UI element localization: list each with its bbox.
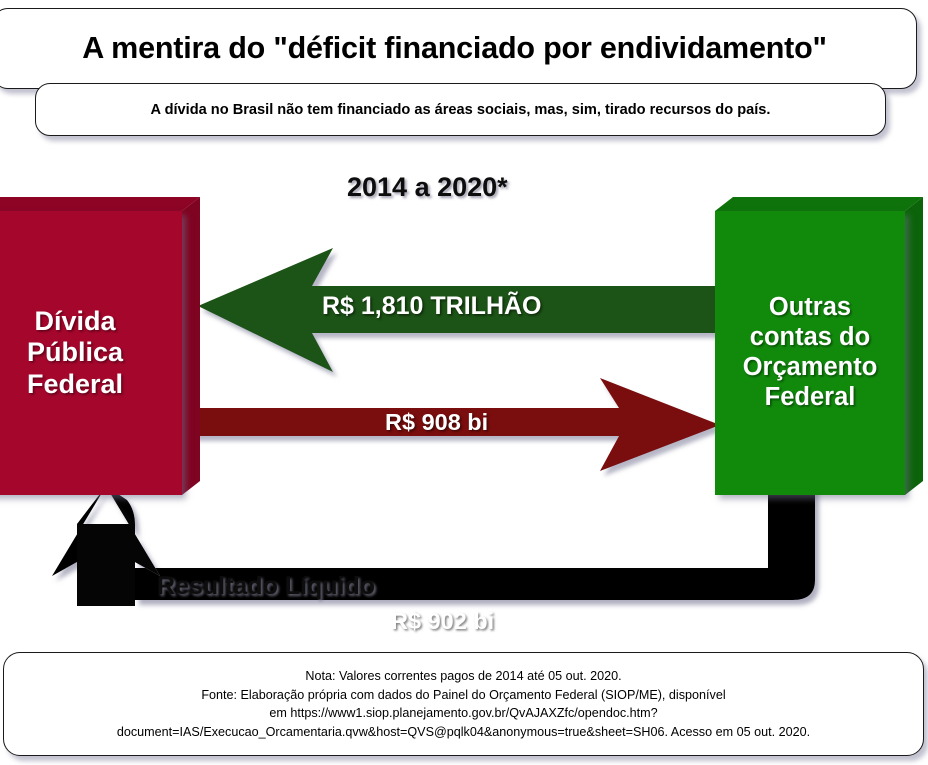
red-block-side-face [182,197,200,495]
period-label: 2014 a 2020* [347,172,508,203]
green-block-top-face [715,197,923,211]
footer-callout: Nota: Valores correntes pagos de 2014 at… [3,652,924,756]
node-left-label: Dívida Pública Federal [27,306,123,401]
page-title: A mentira do "déficit financiado por end… [72,31,837,66]
black-arrow-stem [77,524,135,606]
net-flow-value: R$ 902 bi [391,608,494,635]
node-right-label: Outras contas do Orçamento Federal [743,293,878,412]
node-divida-publica-federal: Dívida Pública Federal [0,197,200,495]
green-flow-value: R$ 1,810 TRILHÃO [322,292,542,321]
subtitle-callout: A dívida no Brasil não tem financiado as… [35,83,886,136]
red-flow-value: R$ 908 bi [385,409,488,436]
footer-note: Nota: Valores correntes pagos de 2014 at… [109,667,818,741]
red-block-front-face: Dívida Pública Federal [0,211,182,495]
net-flow-title: Resultado Líquido [157,572,375,601]
node-outras-contas-orcamento-federal: Outras contas do Orçamento Federal [715,197,923,495]
title-callout: A mentira do "déficit financiado por end… [0,8,917,89]
subtitle-text: A dívida no Brasil não tem financiado as… [137,102,785,118]
green-block-front-face: Outras contas do Orçamento Federal [715,211,905,495]
red-block-top-face [0,197,200,211]
green-block-side-face [905,197,923,495]
infographic-canvas: A mentira do "déficit financiado por end… [0,0,928,765]
